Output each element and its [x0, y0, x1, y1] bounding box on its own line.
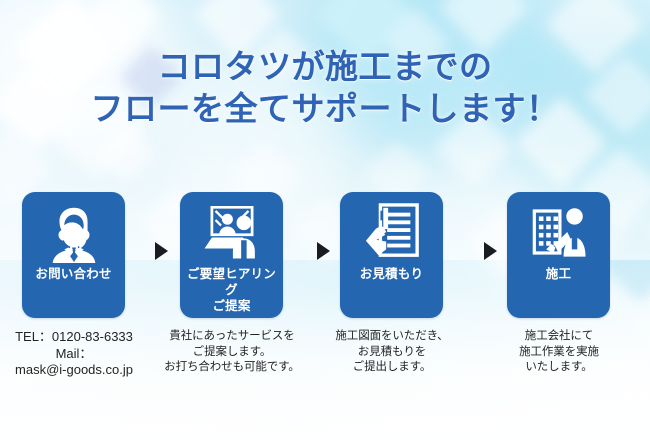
- flow-step-2-label-line-1: ご要望ヒアリング: [183, 266, 280, 298]
- flow-step-4-caption-line-2: 施工作業を実施: [483, 345, 635, 361]
- flow-step-1-label: お問い合わせ: [22, 266, 125, 282]
- flow-step-4-caption: 施工会社にて 施工作業を実施 いたします。: [483, 329, 635, 376]
- flow-step-3-label-line-1: お見積もり: [343, 266, 440, 282]
- flow-banner: コロタツが施工までの フローを全てサポートします！: [0, 0, 650, 440]
- online-meeting-icon: [180, 192, 283, 266]
- flow-step-4-caption-line-1: 施工会社にて: [483, 329, 635, 345]
- flow-step-3[interactable]: お見積もり 施工図面をいただき、 お見積もりを ご提出します。: [340, 192, 443, 376]
- headline-line-2: フローを全てサポートします！: [0, 88, 650, 130]
- flow-step-3-caption-line-1: 施工図面をいただき、: [316, 329, 468, 345]
- headline: コロタツが施工までの フローを全てサポートします！: [0, 46, 650, 130]
- flow-step-1-caption-line-2: Mail：: [0, 346, 150, 363]
- flow-step-2-caption: 貴社にあったサービスを ご提案します。 お打ち合わせも可能です。: [156, 329, 308, 376]
- flow-step-2-caption-line-2: ご提案します。: [156, 345, 308, 361]
- flow-step-3-card[interactable]: お見積もり: [340, 192, 443, 318]
- arrow-right-3-icon: [484, 242, 497, 260]
- flow-step-2-card[interactable]: ご要望ヒアリング ご提案: [180, 192, 283, 318]
- flow-step-3-caption-line-2: お見積もりを: [316, 345, 468, 361]
- flow-step-1-card[interactable]: お問い合わせ: [22, 192, 125, 318]
- arrow-right-1-icon: [155, 242, 168, 260]
- flow-step-2[interactable]: ご要望ヒアリング ご提案 貴社にあったサービスを ご提案します。 お打ち合わせも…: [180, 192, 283, 376]
- construction-worker-building-icon: [507, 192, 610, 266]
- flow-step-2-caption-line-3: お打ち合わせも可能です。: [156, 360, 308, 376]
- flow-step-4-caption-line-3: いたします。: [483, 360, 635, 376]
- arrow-right-2-icon: [317, 242, 330, 260]
- flow-step-4[interactable]: 施工 施工会社にて 施工作業を実施 いたします。: [507, 192, 610, 376]
- quote-document-hand-icon: [340, 192, 443, 266]
- flow-step-4-label: 施工: [507, 266, 610, 282]
- flow-step-1-caption-line-1: TEL：0120-83-6333: [0, 329, 150, 346]
- flow-step-4-card[interactable]: 施工: [507, 192, 610, 318]
- flow-step-1-caption: TEL：0120-83-6333 Mail： mask@i-goods.co.j…: [0, 329, 150, 379]
- flow-step-2-label-line-2: ご提案: [183, 298, 280, 314]
- operator-headset-icon: [22, 192, 125, 266]
- flow-step-3-caption-line-3: ご提出します。: [316, 360, 468, 376]
- flow-step-2-caption-line-1: 貴社にあったサービスを: [156, 329, 308, 345]
- headline-line-1: コロタツが施工までの: [0, 46, 650, 88]
- flow-step-1[interactable]: お問い合わせ TEL：0120-83-6333 Mail： mask@i-goo…: [22, 192, 125, 379]
- flow-step-4-label-line-1: 施工: [510, 266, 607, 282]
- flow-step-1-label-line-1: お問い合わせ: [25, 266, 122, 282]
- flow-step-3-label: お見積もり: [340, 266, 443, 282]
- flow-step-2-label: ご要望ヒアリング ご提案: [180, 266, 283, 314]
- flow-steps: お問い合わせ TEL：0120-83-6333 Mail： mask@i-goo…: [0, 192, 650, 412]
- flow-step-3-caption: 施工図面をいただき、 お見積もりを ご提出します。: [316, 329, 468, 376]
- flow-step-1-caption-line-3: mask@i-goods.co.jp: [0, 362, 150, 379]
